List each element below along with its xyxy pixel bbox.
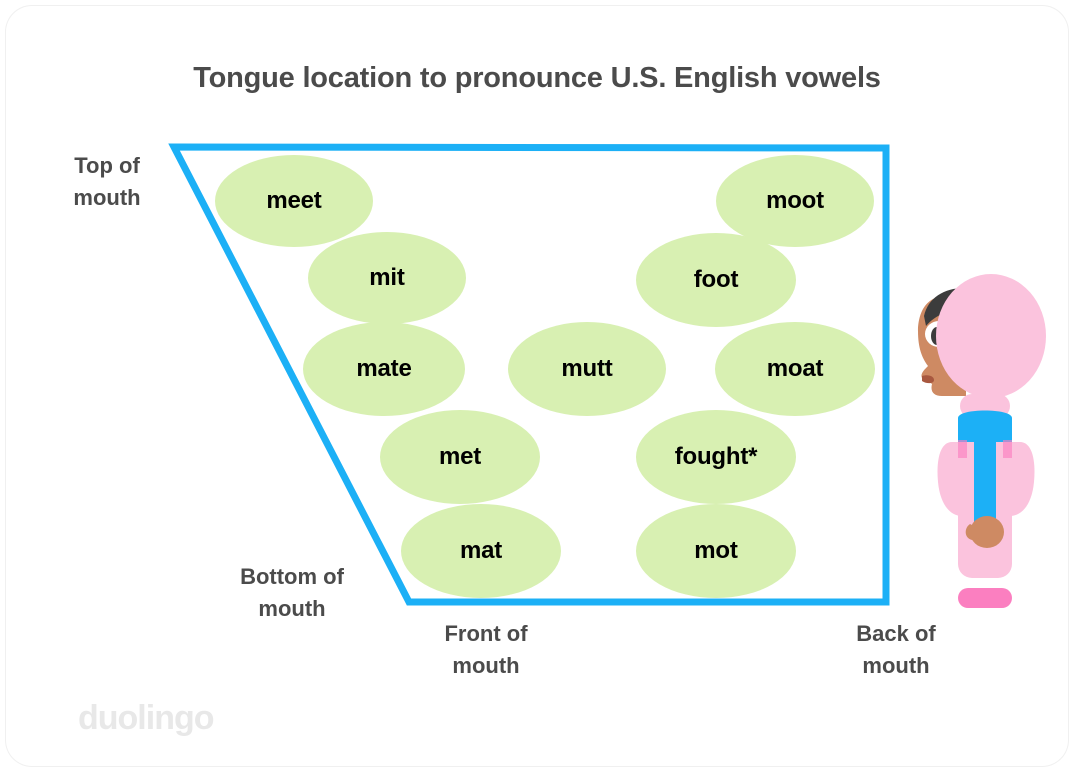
vowel-bubble[interactable]: mutt (508, 322, 666, 416)
vowel-bubble[interactable]: moat (715, 322, 875, 416)
character-illustration (906, 236, 1056, 616)
vowel-bubble[interactable]: mate (303, 322, 465, 416)
character-scarf-top (958, 411, 1012, 445)
character-scarf-tail (974, 442, 996, 526)
vowel-bubble[interactable]: meet (215, 155, 373, 247)
duolingo-logo: duolingo (78, 699, 214, 738)
vowel-bubble[interactable]: met (380, 410, 540, 504)
label-front-of-mouth: Front of mouth (396, 618, 576, 682)
vowel-bubble[interactable]: mot (636, 504, 796, 598)
vowel-bubble[interactable]: mat (401, 504, 561, 598)
label-back-of-mouth: Back of mouth (806, 618, 986, 682)
vowel-bubble[interactable]: fought* (636, 410, 796, 504)
label-bottom-of-mouth: Bottom of mouth (202, 561, 382, 625)
page-title: Tongue location to pronounce U.S. Englis… (6, 62, 1068, 95)
vowel-bubble[interactable]: mit (308, 232, 466, 324)
vowel-bubble[interactable]: foot (636, 233, 796, 327)
vowel-bubble[interactable]: moot (716, 155, 874, 247)
label-top-of-mouth: Top of mouth (42, 150, 172, 214)
character-hijab (936, 274, 1046, 398)
infographic-card: Tongue location to pronounce U.S. Englis… (6, 6, 1068, 766)
character-shoe (958, 588, 1012, 608)
